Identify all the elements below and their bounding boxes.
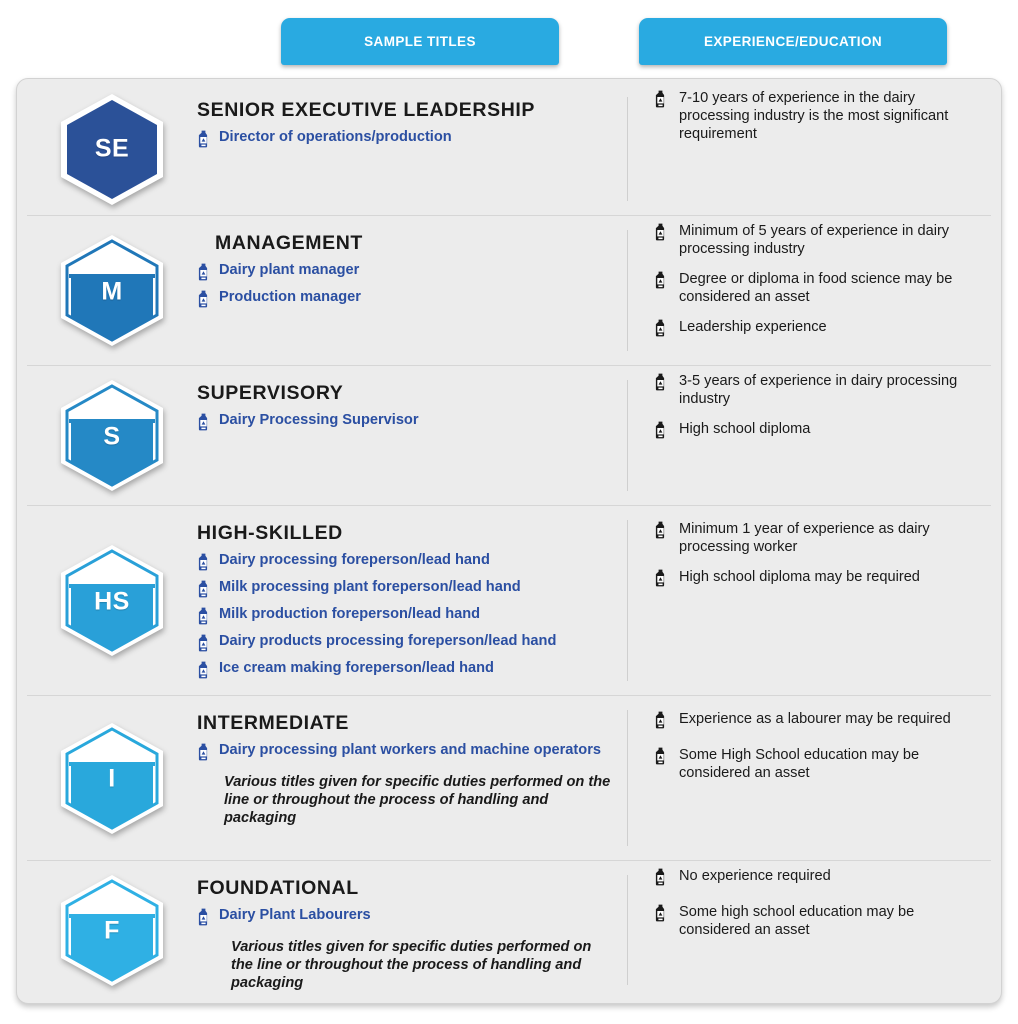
column-headers: SAMPLE TITLES EXPERIENCE/EDUCATION — [0, 18, 1018, 68]
sample-title-label: Dairy processing foreperson/lead hand — [210, 552, 490, 570]
sample-title-label: Dairy Processing Supervisor — [210, 412, 419, 430]
sample-titles-cell: SUPERVISORYDairy Processing Supervisor — [197, 366, 627, 505]
sample-title-item[interactable]: Milk production foreperson/lead hand — [197, 606, 617, 630]
level-row-foundational: FFOUNDATIONALDairy Plant LabourersVariou… — [27, 861, 991, 999]
level-badge-cell: HS — [27, 506, 197, 695]
milk-bottle-icon — [197, 553, 210, 576]
milk-bottle-icon — [654, 319, 667, 342]
milk-bottle-icon — [654, 421, 667, 444]
sample-title-label: Production manager — [210, 289, 361, 307]
header-experience-education: EXPERIENCE/EDUCATION — [639, 18, 947, 65]
level-badge-intermediate: I — [60, 722, 164, 835]
level-row-high-skilled: HSHIGH-SKILLEDDairy processing foreperso… — [27, 506, 991, 696]
experience-label: High school diploma may be required — [667, 568, 920, 586]
level-title: SUPERVISORY — [197, 382, 617, 405]
level-title: SENIOR EXECUTIVE LEADERSHIP — [197, 99, 617, 122]
sample-title-item[interactable]: Dairy Processing Supervisor — [197, 412, 617, 436]
sample-title-item[interactable]: Production manager — [197, 289, 617, 313]
level-badge-label: SE — [60, 135, 164, 164]
experience-cell: 3-5 years of experience in dairy process… — [628, 366, 991, 505]
sample-title-label: Ice cream making foreperson/lead hand — [210, 660, 494, 678]
sample-title-label: Director of operations/production — [210, 129, 452, 147]
experience-label: Experience as a labourer may be required — [667, 710, 951, 728]
sample-title-item[interactable]: Milk processing plant foreperson/lead ha… — [197, 579, 617, 603]
experience-cell: Minimum of 5 years of experience in dair… — [628, 216, 991, 365]
experience-item: Some high school education may be consid… — [654, 903, 979, 939]
milk-bottle-icon — [654, 569, 667, 592]
level-badge-management: M — [60, 234, 164, 347]
experience-item: Some High School education may be consid… — [654, 746, 979, 782]
milk-bottle-icon — [197, 908, 210, 931]
experience-label: 7-10 years of experience in the dairy pr… — [667, 89, 979, 143]
level-row-management: MMANAGEMENTDairy plant managerProduction… — [27, 216, 991, 366]
milk-bottle-icon — [654, 904, 667, 927]
level-badge-senior-executive-leadership: SE — [60, 93, 164, 206]
milk-bottle-icon — [654, 747, 667, 770]
level-badge-label: F — [60, 917, 164, 946]
milk-bottle-icon — [654, 711, 667, 734]
experience-item: Minimum 1 year of experience as dairy pr… — [654, 520, 979, 556]
experience-item: Leadership experience — [654, 318, 979, 342]
sample-titles-list: Dairy processing foreperson/lead handMil… — [197, 552, 617, 684]
milk-bottle-icon — [197, 743, 210, 766]
sample-title-label: Dairy plant manager — [210, 262, 359, 280]
sample-title-label: Dairy products processing foreperson/lea… — [210, 633, 556, 651]
experience-item: Experience as a labourer may be required — [654, 710, 979, 734]
sample-titles-cell: MANAGEMENTDairy plant managerProduction … — [197, 216, 627, 365]
level-row-senior-executive-leadership: SESENIOR EXECUTIVE LEADERSHIPDirector of… — [27, 83, 991, 216]
sample-titles-cell: HIGH-SKILLEDDairy processing foreperson/… — [197, 506, 627, 695]
milk-bottle-icon — [654, 223, 667, 246]
milk-bottle-icon — [197, 290, 210, 313]
level-badge-label: M — [60, 277, 164, 306]
milk-bottle-icon — [197, 580, 210, 603]
experience-item: Minimum of 5 years of experience in dair… — [654, 222, 979, 258]
experience-item: No experience required — [654, 867, 979, 891]
sample-titles-list: Dairy Plant Labourers — [197, 907, 617, 931]
experience-label: Minimum of 5 years of experience in dair… — [667, 222, 979, 258]
milk-bottle-icon — [197, 661, 210, 684]
sample-title-label: Dairy Plant Labourers — [210, 907, 371, 925]
experience-label: 3-5 years of experience in dairy process… — [667, 372, 979, 408]
milk-bottle-icon — [197, 413, 210, 436]
level-title: MANAGEMENT — [197, 232, 617, 255]
level-badge-cell: S — [27, 366, 197, 505]
career-ladder-panel: SESENIOR EXECUTIVE LEADERSHIPDirector of… — [16, 78, 1002, 1004]
experience-label: Degree or diploma in food science may be… — [667, 270, 979, 306]
milk-bottle-icon — [654, 521, 667, 544]
level-badge-cell: F — [27, 861, 197, 999]
milk-bottle-icon — [197, 130, 210, 153]
milk-bottle-icon — [654, 90, 667, 113]
level-badge-cell: SE — [27, 83, 197, 215]
level-title: HIGH-SKILLED — [197, 522, 617, 545]
sample-titles-list: Director of operations/production — [197, 129, 617, 153]
sample-title-item[interactable]: Dairy Plant Labourers — [197, 907, 617, 931]
sample-titles-cell: FOUNDATIONALDairy Plant LabourersVarious… — [197, 861, 627, 999]
experience-cell: Minimum 1 year of experience as dairy pr… — [628, 506, 991, 695]
level-row-supervisory: SSUPERVISORYDairy Processing Supervisor3… — [27, 366, 991, 506]
level-badge-cell: M — [27, 216, 197, 365]
experience-label: Leadership experience — [667, 318, 827, 336]
experience-cell: Experience as a labourer may be required… — [628, 696, 991, 860]
experience-label: No experience required — [667, 867, 831, 885]
level-badge-label: HS — [60, 587, 164, 616]
sample-title-item[interactable]: Dairy processing foreperson/lead hand — [197, 552, 617, 576]
level-badge-cell: I — [27, 696, 197, 860]
experience-item: 7-10 years of experience in the dairy pr… — [654, 89, 979, 143]
milk-bottle-icon — [654, 868, 667, 891]
milk-bottle-icon — [197, 263, 210, 286]
sample-title-item[interactable]: Dairy products processing foreperson/lea… — [197, 633, 617, 657]
sample-title-label: Milk processing plant foreperson/lead ha… — [210, 579, 521, 597]
sample-titles-list: Dairy processing plant workers and machi… — [197, 742, 617, 766]
experience-item: High school diploma — [654, 420, 979, 444]
experience-label: Minimum 1 year of experience as dairy pr… — [667, 520, 979, 556]
milk-bottle-icon — [197, 607, 210, 630]
experience-cell: No experience requiredSome high school e… — [628, 861, 991, 999]
level-title: INTERMEDIATE — [197, 712, 617, 735]
milk-bottle-icon — [654, 373, 667, 396]
level-badge-label: S — [60, 422, 164, 451]
sample-title-item[interactable]: Dairy plant manager — [197, 262, 617, 286]
milk-bottle-icon — [654, 271, 667, 294]
sample-title-item[interactable]: Director of operations/production — [197, 129, 617, 153]
titles-note: Various titles given for specific duties… — [197, 773, 617, 828]
header-experience-education-label: EXPERIENCE/EDUCATION — [704, 34, 882, 49]
experience-item: Degree or diploma in food science may be… — [654, 270, 979, 306]
experience-label: Some High School education may be consid… — [667, 746, 979, 782]
level-badge-label: I — [60, 765, 164, 794]
sample-title-label: Milk production foreperson/lead hand — [210, 606, 480, 624]
level-badge-foundational: F — [60, 874, 164, 987]
header-sample-titles: SAMPLE TITLES — [281, 18, 559, 65]
experience-cell: 7-10 years of experience in the dairy pr… — [628, 83, 991, 215]
level-badge-supervisory: S — [60, 379, 164, 492]
experience-label: High school diploma — [667, 420, 810, 438]
experience-item: 3-5 years of experience in dairy process… — [654, 372, 979, 408]
sample-titles-list: Dairy Processing Supervisor — [197, 412, 617, 436]
sample-title-item[interactable]: Ice cream making foreperson/lead hand — [197, 660, 617, 684]
titles-note: Various titles given for specific duties… — [197, 938, 617, 993]
sample-titles-cell: INTERMEDIATEDairy processing plant worke… — [197, 696, 627, 860]
level-badge-high-skilled: HS — [60, 544, 164, 657]
level-title: FOUNDATIONAL — [197, 877, 617, 900]
level-row-intermediate: IINTERMEDIATEDairy processing plant work… — [27, 696, 991, 861]
milk-bottle-icon — [197, 634, 210, 657]
experience-item: High school diploma may be required — [654, 568, 979, 592]
sample-title-label: Dairy processing plant workers and machi… — [210, 742, 601, 760]
experience-label: Some high school education may be consid… — [667, 903, 979, 939]
sample-title-item[interactable]: Dairy processing plant workers and machi… — [197, 742, 617, 766]
sample-titles-cell: SENIOR EXECUTIVE LEADERSHIPDirector of o… — [197, 83, 627, 215]
sample-titles-list: Dairy plant managerProduction manager — [197, 262, 617, 313]
header-sample-titles-label: SAMPLE TITLES — [364, 34, 476, 49]
